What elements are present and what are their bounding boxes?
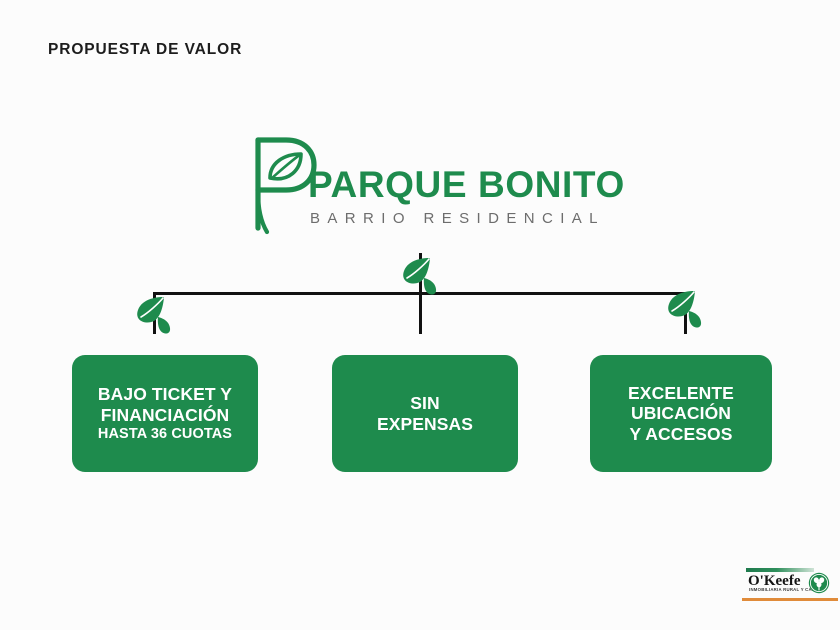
value-box-bajo-ticket[interactable]: BAJO TICKET Y FINANCIACIÓN HASTA 36 CUOT… — [72, 355, 258, 472]
leaf-icon — [664, 284, 714, 332]
value-box-sin-expensas[interactable]: SIN EXPENSAS — [332, 355, 518, 472]
leaf-icon — [133, 290, 183, 338]
brand-lockup: PARQUE BONITO BARRIO RESIDENCIAL — [246, 132, 596, 240]
value-box-line: EXCELENTE — [628, 383, 734, 403]
partner-logo-bottom-rule — [742, 598, 838, 601]
clover-badge-icon — [808, 572, 830, 594]
page-title: PROPUESTA DE VALOR — [48, 42, 242, 58]
value-box-line: UBICACIÓN — [631, 403, 731, 423]
partner-logo-top-rule — [746, 568, 814, 572]
value-box-line: Y ACCESOS — [629, 424, 732, 444]
slide-canvas: PROPUESTA DE VALOR PARQUE BONITO BARRIO … — [0, 0, 840, 630]
value-box-line: BAJO TICKET Y — [98, 384, 232, 404]
brand-tagline: BARRIO RESIDENCIAL — [310, 211, 605, 226]
value-box-line: SIN — [410, 393, 439, 413]
brand-name: PARQUE BONITO — [308, 166, 625, 203]
value-box-line: EXPENSAS — [377, 414, 473, 434]
value-box-line: FINANCIACIÓN — [101, 405, 230, 425]
value-box-subline: HASTA 36 CUOTAS — [98, 426, 232, 443]
leaf-icon — [399, 251, 449, 299]
connector-diagram — [120, 248, 720, 368]
value-box-excelente-ubicacion[interactable]: EXCELENTE UBICACIÓN Y ACCESOS — [590, 355, 772, 472]
partner-logo: O'Keefe INMOBILIARIA RURAL Y CAMPOS — [742, 566, 838, 610]
